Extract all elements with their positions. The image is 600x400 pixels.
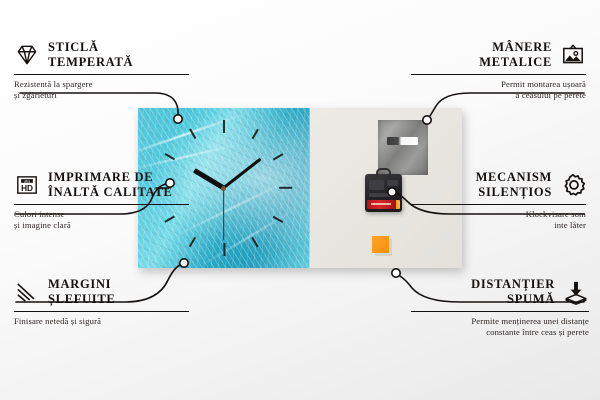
feature-spacer-title: DISTANȚIER SPUMĂ	[471, 277, 555, 307]
feature-spacer-rule	[411, 311, 589, 312]
feature-mechanism-title: MECANISM SILENȚIOS	[476, 170, 552, 200]
foam-spacer-icon	[563, 279, 589, 305]
movement-detail	[369, 193, 395, 197]
feature-handles-title: MÂNERE METALICE	[479, 40, 552, 70]
svg-text:HD: HD	[21, 184, 33, 193]
feature-print-title: IMPRIMARE DE ÎNALTĂ CALITATE	[48, 170, 173, 200]
feature-edges-rule	[14, 311, 189, 312]
feature-spacer-subtitle: Permite menținerea unei distanțe constan…	[411, 316, 589, 339]
feature-spacer: DISTANȚIER SPUMĂ Permite menținerea unei…	[411, 277, 589, 338]
feature-print: ultra HD IMPRIMARE DE ÎNALTĂ CALITATE Cu…	[14, 170, 189, 231]
feature-edges-subtitle: Finisare netedă și sigură	[14, 316, 189, 327]
feature-spacer-head: DISTANȚIER SPUMĂ	[411, 277, 589, 307]
movement-detail	[387, 180, 398, 186]
feature-edges-head: MARGINI ȘLEFUITE	[14, 277, 189, 307]
feature-print-head: ultra HD IMPRIMARE DE ÎNALTĂ CALITATE	[14, 170, 189, 200]
feature-glass-rule	[14, 74, 189, 75]
polished-edges-icon	[14, 279, 40, 305]
feature-handles: MÂNERE METALICE Permit montarea ușoară a…	[411, 40, 586, 101]
feature-edges: MARGINI ȘLEFUITE Finisare netedă și sigu…	[14, 277, 189, 327]
feature-edges-title: MARGINI ȘLEFUITE	[48, 277, 115, 307]
battery-label-band	[371, 203, 391, 205]
feature-glass: STICLĂ TEMPERATĂ Rezistentă la spargere …	[14, 40, 189, 101]
hanger-slot	[387, 137, 418, 145]
ultra-hd-icon: ultra HD	[14, 172, 40, 198]
feature-mechanism: MECANISM SILENȚIOS Klockvisare som inte …	[411, 170, 586, 231]
feature-glass-title: STICLĂ TEMPERATĂ	[48, 40, 133, 70]
feature-handles-rule	[411, 74, 586, 75]
feature-glass-subtitle: Rezistentă la spargere și zgârieturi	[14, 79, 189, 102]
clock-tick	[279, 187, 292, 189]
feature-handles-head: MÂNERE METALICE	[411, 40, 586, 70]
movement-hanging-loop	[376, 168, 391, 177]
battery	[367, 200, 400, 209]
feature-handles-subtitle: Permit montarea ușoară a ceasului pe per…	[411, 79, 586, 102]
clock-tick	[223, 120, 225, 133]
svg-text:ultra: ultra	[24, 179, 31, 183]
feature-mechanism-head: MECANISM SILENȚIOS	[411, 170, 586, 200]
infographic-canvas: STICLĂ TEMPERATĂ Rezistentă la spargere …	[0, 0, 600, 400]
clock-center-cap	[221, 186, 226, 191]
diamond-icon	[14, 42, 40, 68]
feature-mechanism-rule	[411, 204, 586, 205]
feature-mechanism-subtitle: Klockvisare som inte låter	[411, 209, 586, 232]
picture-hanger-icon	[560, 42, 586, 68]
feature-glass-head: STICLĂ TEMPERATĂ	[14, 40, 189, 70]
clock-second-hand	[223, 188, 224, 240]
metal-hanger-plate	[378, 120, 428, 175]
feature-print-subtitle: Culori intense și imagine clară	[14, 209, 189, 232]
gear-icon	[560, 172, 586, 198]
feature-print-rule	[14, 204, 189, 205]
movement-detail	[369, 180, 384, 190]
foam-spacer	[372, 236, 389, 253]
clock-tick	[223, 243, 225, 256]
clock-movement	[365, 174, 402, 212]
connector-dot-spacer	[392, 269, 400, 277]
